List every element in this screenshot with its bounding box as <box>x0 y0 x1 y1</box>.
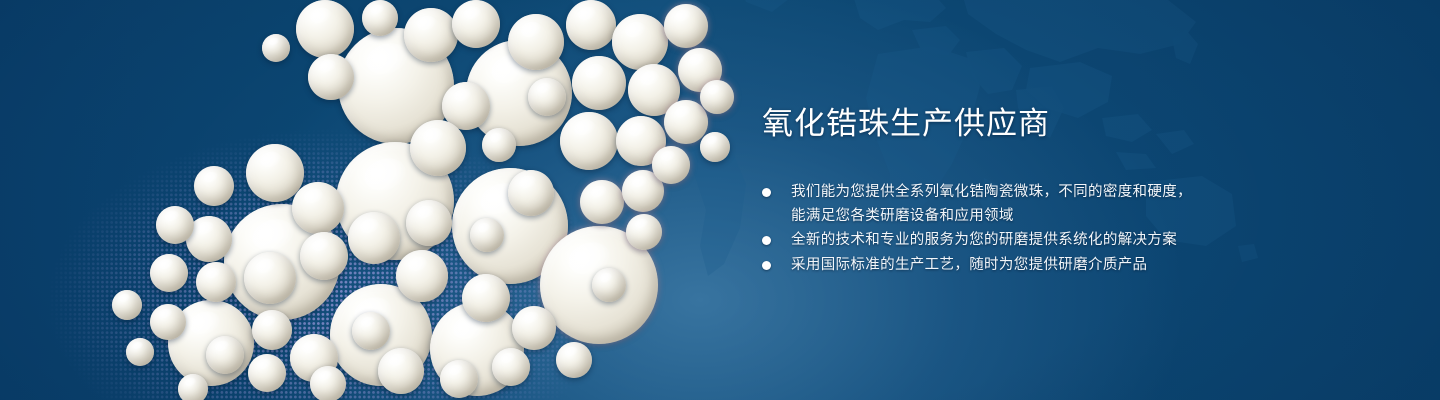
feature-list: 我们能为您提供全系列氧化锆陶瓷微珠，不同的密度和硬度， 能满足您各类研磨设备和应… <box>762 181 1232 277</box>
list-item-line1: 采用国际标准的生产工艺，随时为您提供研磨介质产品 <box>791 257 1147 273</box>
list-item-line1: 全新的技术和专业的服务为您的研磨提供系统化的解决方案 <box>791 232 1177 248</box>
bullet-dot-icon <box>762 261 771 270</box>
hero-banner: 氧化锆珠生产供应商 我们能为您提供全系列氧化锆陶瓷微珠，不同的密度和硬度， 能满… <box>0 0 1440 400</box>
list-item-line2: 能满足您各类研磨设备和应用领域 <box>791 205 1232 229</box>
list-item: 采用国际标准的生产工艺，随时为您提供研磨介质产品 <box>762 254 1232 278</box>
list-item-line1: 我们能为您提供全系列氧化锆陶瓷微珠，不同的密度和硬度， <box>791 184 1192 200</box>
page-title: 氧化锆珠生产供应商 <box>762 108 1232 139</box>
list-item: 我们能为您提供全系列氧化锆陶瓷微珠，不同的密度和硬度， 能满足您各类研磨设备和应… <box>762 181 1232 228</box>
bullet-dot-icon <box>762 188 771 197</box>
bullet-dot-icon <box>762 236 771 245</box>
banner-copy: 氧化锆珠生产供应商 我们能为您提供全系列氧化锆陶瓷微珠，不同的密度和硬度， 能满… <box>762 108 1232 278</box>
list-item: 全新的技术和专业的服务为您的研磨提供系统化的解决方案 <box>762 229 1232 253</box>
